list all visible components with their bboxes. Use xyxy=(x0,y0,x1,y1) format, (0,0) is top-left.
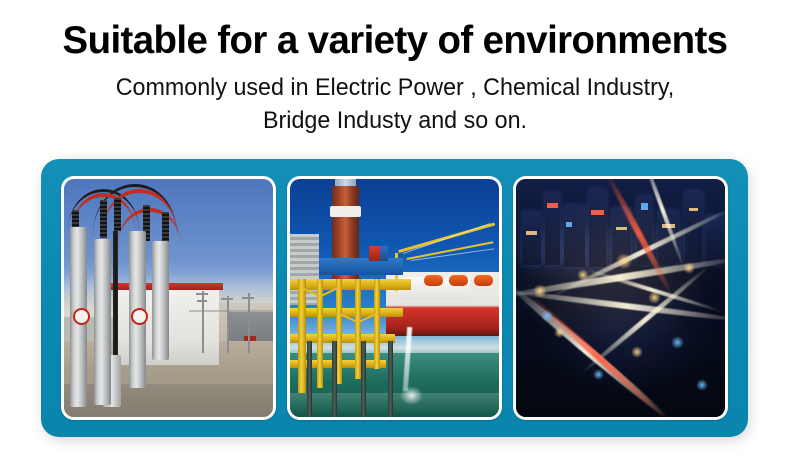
gallery-item-electric-power[interactable] xyxy=(61,176,276,420)
photo-chemical-industry xyxy=(290,179,499,417)
subtitle-line-2: Bridge Industy and so on. xyxy=(12,103,778,136)
header: Suitable for a variety of environments C… xyxy=(0,0,790,136)
gallery-panel xyxy=(41,159,748,437)
gallery-item-chemical-industry[interactable] xyxy=(287,176,502,420)
gallery-item-bridge-industry[interactable] xyxy=(513,176,728,420)
page-title: Suitable for a variety of environments xyxy=(6,0,784,63)
photo-electric-power xyxy=(64,179,273,417)
photo-bridge-industry xyxy=(516,179,725,417)
subtitle-line-1: Commonly used in Electric Power , Chemic… xyxy=(12,63,778,103)
gallery-frames xyxy=(41,159,748,437)
